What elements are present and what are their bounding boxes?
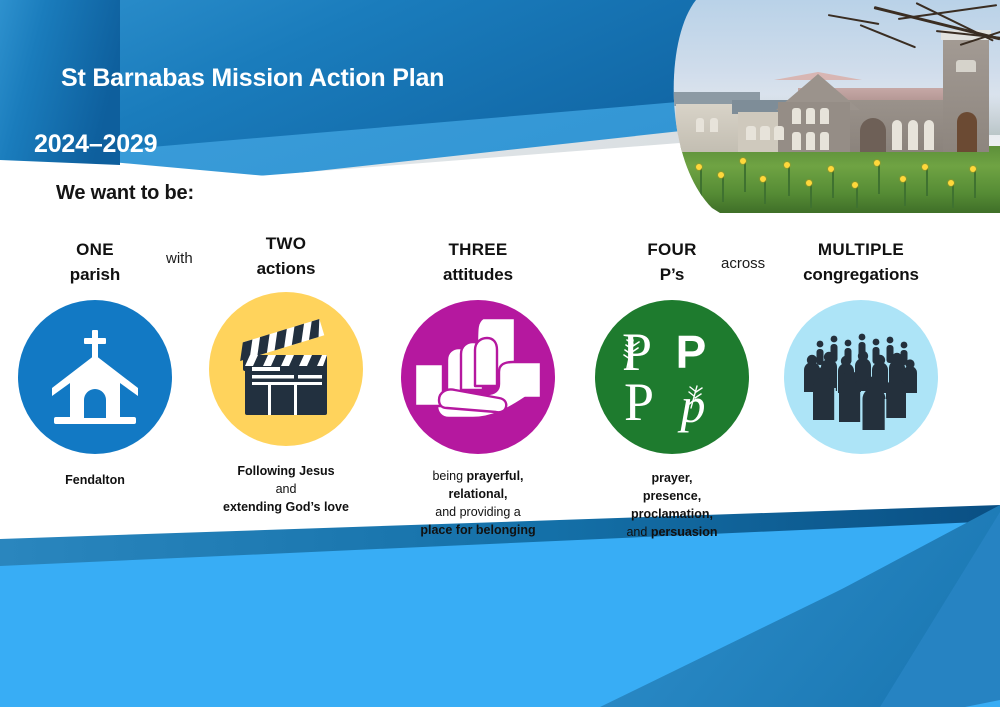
photo-daffodil — [760, 176, 766, 182]
caption-text: prayer, — [651, 471, 692, 485]
caption-text: Fendalton — [65, 473, 125, 487]
photo-window — [956, 60, 976, 72]
photo-tower-door — [957, 112, 977, 152]
photo-window — [820, 132, 829, 150]
pillar-two-actions: TWO actions — [191, 232, 381, 517]
caption-text: and providing a — [435, 505, 520, 519]
photo-window — [696, 118, 704, 132]
photo-window — [792, 132, 801, 150]
caption-text: place for belonging — [420, 523, 535, 537]
poster-title-line2: 2024–2029 — [34, 128, 444, 161]
photo-daffodil — [718, 172, 724, 178]
pillar-one-parish: ONE parish Fendalton — [0, 232, 190, 490]
photo-stem — [974, 170, 976, 198]
caption-text: being — [432, 469, 466, 483]
pillar-caption: Following Jesus and extending God’s love — [191, 463, 381, 516]
pillar-title: TWO actions — [191, 232, 381, 281]
four-ps-icon: P P P p — [607, 312, 737, 442]
clapperboard-circle — [209, 292, 363, 446]
caption-text: and — [276, 482, 297, 496]
pillar-three-attitudes: THREE attitudes — [383, 232, 573, 539]
photo-stem — [722, 176, 724, 202]
pillar-caption: being prayerful, relational, and providi… — [383, 468, 573, 539]
photo-window — [710, 118, 718, 132]
pillar-title: ONE parish — [0, 232, 190, 287]
pillar-noun: attitudes — [383, 263, 573, 288]
pillar-title: THREE attitudes — [383, 232, 573, 287]
pillar-caption: prayer, presence, proclamation, and pers… — [577, 470, 767, 541]
hands-circle — [401, 300, 555, 454]
photo-daffodil — [900, 176, 906, 182]
photo-window — [924, 120, 934, 150]
photo-stem — [952, 184, 954, 208]
pillar-number: MULTIPLE — [766, 238, 956, 263]
caption-text: prayerful, — [467, 469, 524, 483]
photo-daffodil — [874, 160, 880, 166]
clasped-hands-icon — [403, 302, 553, 452]
photo-stem — [744, 162, 746, 192]
caption-text: proclamation, — [631, 507, 713, 521]
photo-daffodil — [740, 158, 746, 164]
photo-stem — [788, 166, 790, 196]
photo-stem — [700, 168, 702, 196]
footer-mid-wedge-right — [880, 512, 1000, 707]
photo-window — [820, 108, 829, 124]
photo-window — [746, 126, 756, 140]
church-photo — [660, 0, 1000, 213]
photo-window — [774, 126, 784, 140]
connector-across: across — [721, 255, 765, 272]
photo-stem — [904, 180, 906, 206]
caption-text: and — [626, 525, 650, 539]
photo-stem — [926, 168, 928, 196]
photo-window — [760, 126, 770, 140]
caption-text: persuasion — [651, 525, 718, 539]
poster-canvas: St Barnabas Mission Action Plan 2024–202… — [0, 0, 1000, 707]
photo-daffodil — [696, 164, 702, 170]
caption-text: Following Jesus — [237, 464, 334, 478]
photo-daffodil — [970, 166, 976, 172]
photo-window — [792, 108, 801, 124]
photo-stem — [878, 164, 880, 194]
photo-daffodil — [784, 162, 790, 168]
pillar-multiple-congregations: MULTIPLE congregations — [766, 232, 956, 470]
caption-text: presence, — [643, 489, 701, 503]
church-circle — [18, 300, 172, 454]
photo-stem — [764, 180, 766, 204]
pillar-caption: Fendalton — [0, 472, 190, 490]
crowd-circle — [784, 300, 938, 454]
pillar-noun: congregations — [766, 263, 956, 288]
caption-text: relational, — [448, 487, 507, 501]
photo-daffodil — [922, 164, 928, 170]
crowd-icon — [796, 312, 926, 442]
church-icon — [40, 322, 150, 432]
photo-window — [806, 132, 815, 150]
pillar-number: THREE — [383, 238, 573, 263]
svg-text:P: P — [624, 372, 654, 432]
photo-daffodil — [828, 166, 834, 172]
caption-text: extending God’s love — [223, 500, 349, 514]
pillar-four-ps: FOUR P’s P P P p — [577, 232, 767, 541]
photo-porch — [860, 118, 886, 152]
pillar-number: TWO — [191, 232, 381, 257]
pillar-noun: actions — [191, 257, 381, 282]
photo-stem — [810, 184, 812, 208]
section-heading: We want to be: — [56, 182, 194, 205]
svg-text:P: P — [676, 326, 707, 378]
photo-daffodil — [948, 180, 954, 186]
poster-title-line1: St Barnabas Mission Action Plan — [61, 64, 444, 92]
pillar-noun: parish — [0, 263, 190, 288]
photo-window — [892, 120, 902, 150]
four-ps-circle: P P P p — [595, 300, 749, 454]
photo-stem — [856, 186, 858, 208]
church-photo-image — [660, 0, 1000, 213]
clapperboard-icon — [228, 311, 344, 427]
pillar-title: MULTIPLE congregations — [766, 232, 956, 287]
photo-daffodil — [806, 180, 812, 186]
photo-stem — [832, 170, 834, 198]
footer-bright-shape — [0, 521, 1000, 707]
connector-with: with — [166, 250, 193, 267]
photo-window — [806, 108, 815, 124]
pillar-number: ONE — [0, 238, 190, 263]
photo-daffodil — [852, 182, 858, 188]
photo-window — [908, 120, 918, 150]
